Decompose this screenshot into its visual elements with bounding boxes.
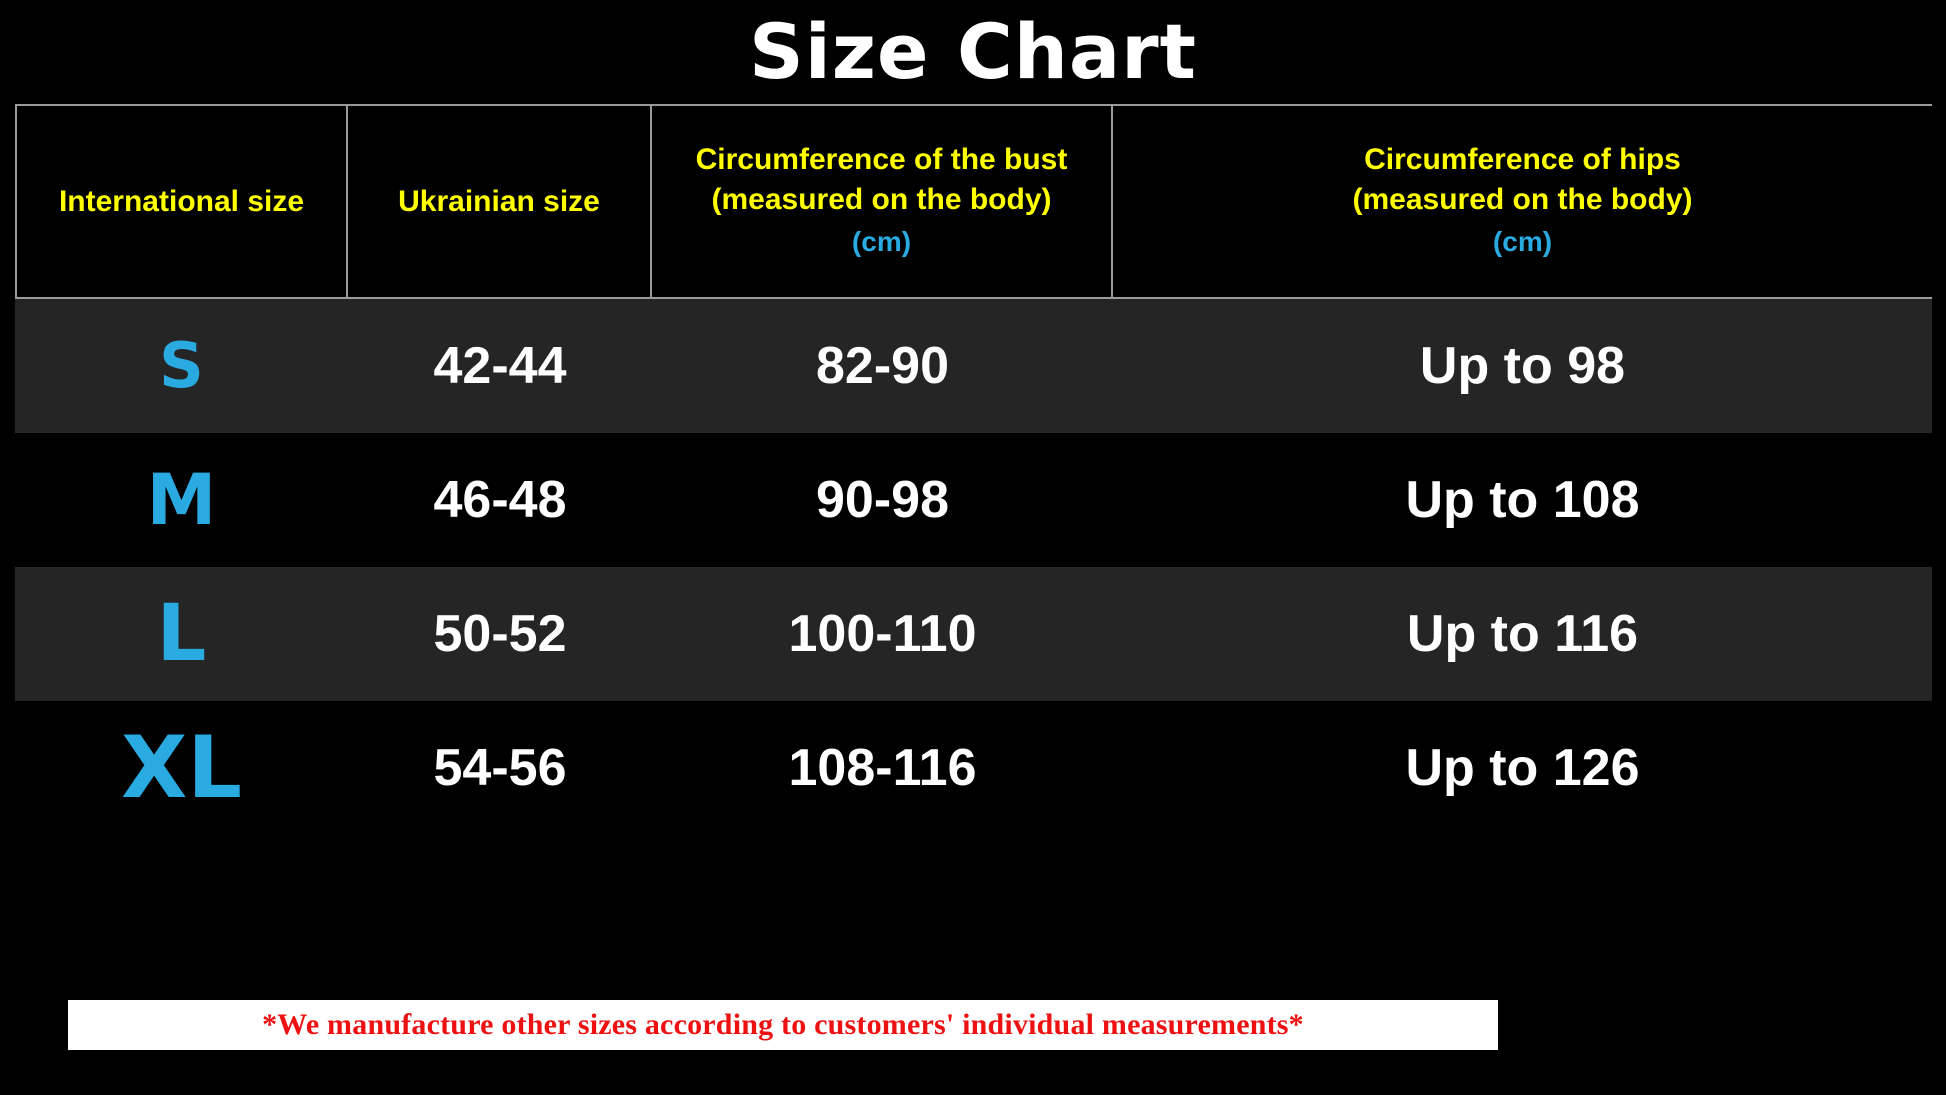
value-hips: Up to 116: [1407, 608, 1638, 660]
value-bust: 90-98: [816, 474, 949, 526]
value-hips: Up to 98: [1420, 340, 1625, 392]
page-title: Size Chart: [0, 6, 1946, 98]
header-label-bust-line1: Circumference of the bust: [696, 143, 1068, 176]
size-chart-page: Size Chart International size Ukrainian …: [0, 0, 1946, 1095]
footnote-text: *We manufacture other sizes according to…: [262, 1008, 1304, 1042]
header-label-bust-line2: (measured on the body): [711, 183, 1051, 216]
value-hips: Up to 126: [1405, 742, 1639, 794]
value-bust: 108-116: [789, 742, 977, 794]
table-row: XL 54-56 108-116 Up to 126: [15, 701, 1932, 835]
cell-international-size: XL: [15, 701, 348, 835]
cell-bust: 90-98: [652, 433, 1113, 567]
header-cell-international-size: International size: [15, 106, 348, 297]
size-label: L: [157, 595, 207, 673]
cell-hips: Up to 116: [1113, 567, 1932, 701]
value-bust: 82-90: [816, 340, 949, 392]
size-label: S: [159, 335, 204, 397]
header-cell-hips: Circumference of hips (measured on the b…: [1113, 106, 1932, 297]
size-chart-table: International size Ukrainian size Circum…: [15, 104, 1932, 835]
cell-ukrainian-size: 50-52: [348, 567, 652, 701]
header-label-hips-line1: Circumference of hips: [1364, 143, 1681, 176]
value-bust: 100-110: [789, 608, 977, 660]
header-label-ukrainian-size: Ukrainian size: [398, 185, 600, 218]
header-unit-bust: (cm): [696, 220, 1068, 264]
header-cell-bust: Circumference of the bust (measured on t…: [652, 106, 1113, 297]
cell-international-size: S: [15, 299, 348, 433]
header-unit-hips: (cm): [1352, 220, 1692, 264]
cell-hips: Up to 98: [1113, 299, 1932, 433]
cell-bust: 100-110: [652, 567, 1113, 701]
value-ukrainian-size: 42-44: [434, 340, 567, 392]
cell-hips: Up to 126: [1113, 701, 1932, 835]
table-row: S 42-44 82-90 Up to 98: [15, 299, 1932, 433]
header-cell-ukrainian-size: Ukrainian size: [348, 106, 652, 297]
cell-international-size: L: [15, 567, 348, 701]
footnote-banner: *We manufacture other sizes according to…: [68, 1000, 1498, 1050]
size-label: XL: [121, 725, 242, 811]
table-header-row: International size Ukrainian size Circum…: [15, 104, 1932, 299]
table-row: M 46-48 90-98 Up to 108: [15, 433, 1932, 567]
value-ukrainian-size: 54-56: [434, 742, 567, 794]
cell-international-size: M: [15, 433, 348, 567]
cell-ukrainian-size: 46-48: [348, 433, 652, 567]
value-hips: Up to 108: [1405, 474, 1639, 526]
table-row: L 50-52 100-110 Up to 116: [15, 567, 1932, 701]
cell-ukrainian-size: 54-56: [348, 701, 652, 835]
header-label-hips-line2: (measured on the body): [1352, 183, 1692, 216]
value-ukrainian-size: 46-48: [434, 474, 567, 526]
size-label: M: [147, 465, 217, 535]
value-ukrainian-size: 50-52: [434, 608, 567, 660]
cell-bust: 82-90: [652, 299, 1113, 433]
header-label-international-size: International size: [59, 185, 304, 218]
cell-hips: Up to 108: [1113, 433, 1932, 567]
cell-ukrainian-size: 42-44: [348, 299, 652, 433]
cell-bust: 108-116: [652, 701, 1113, 835]
